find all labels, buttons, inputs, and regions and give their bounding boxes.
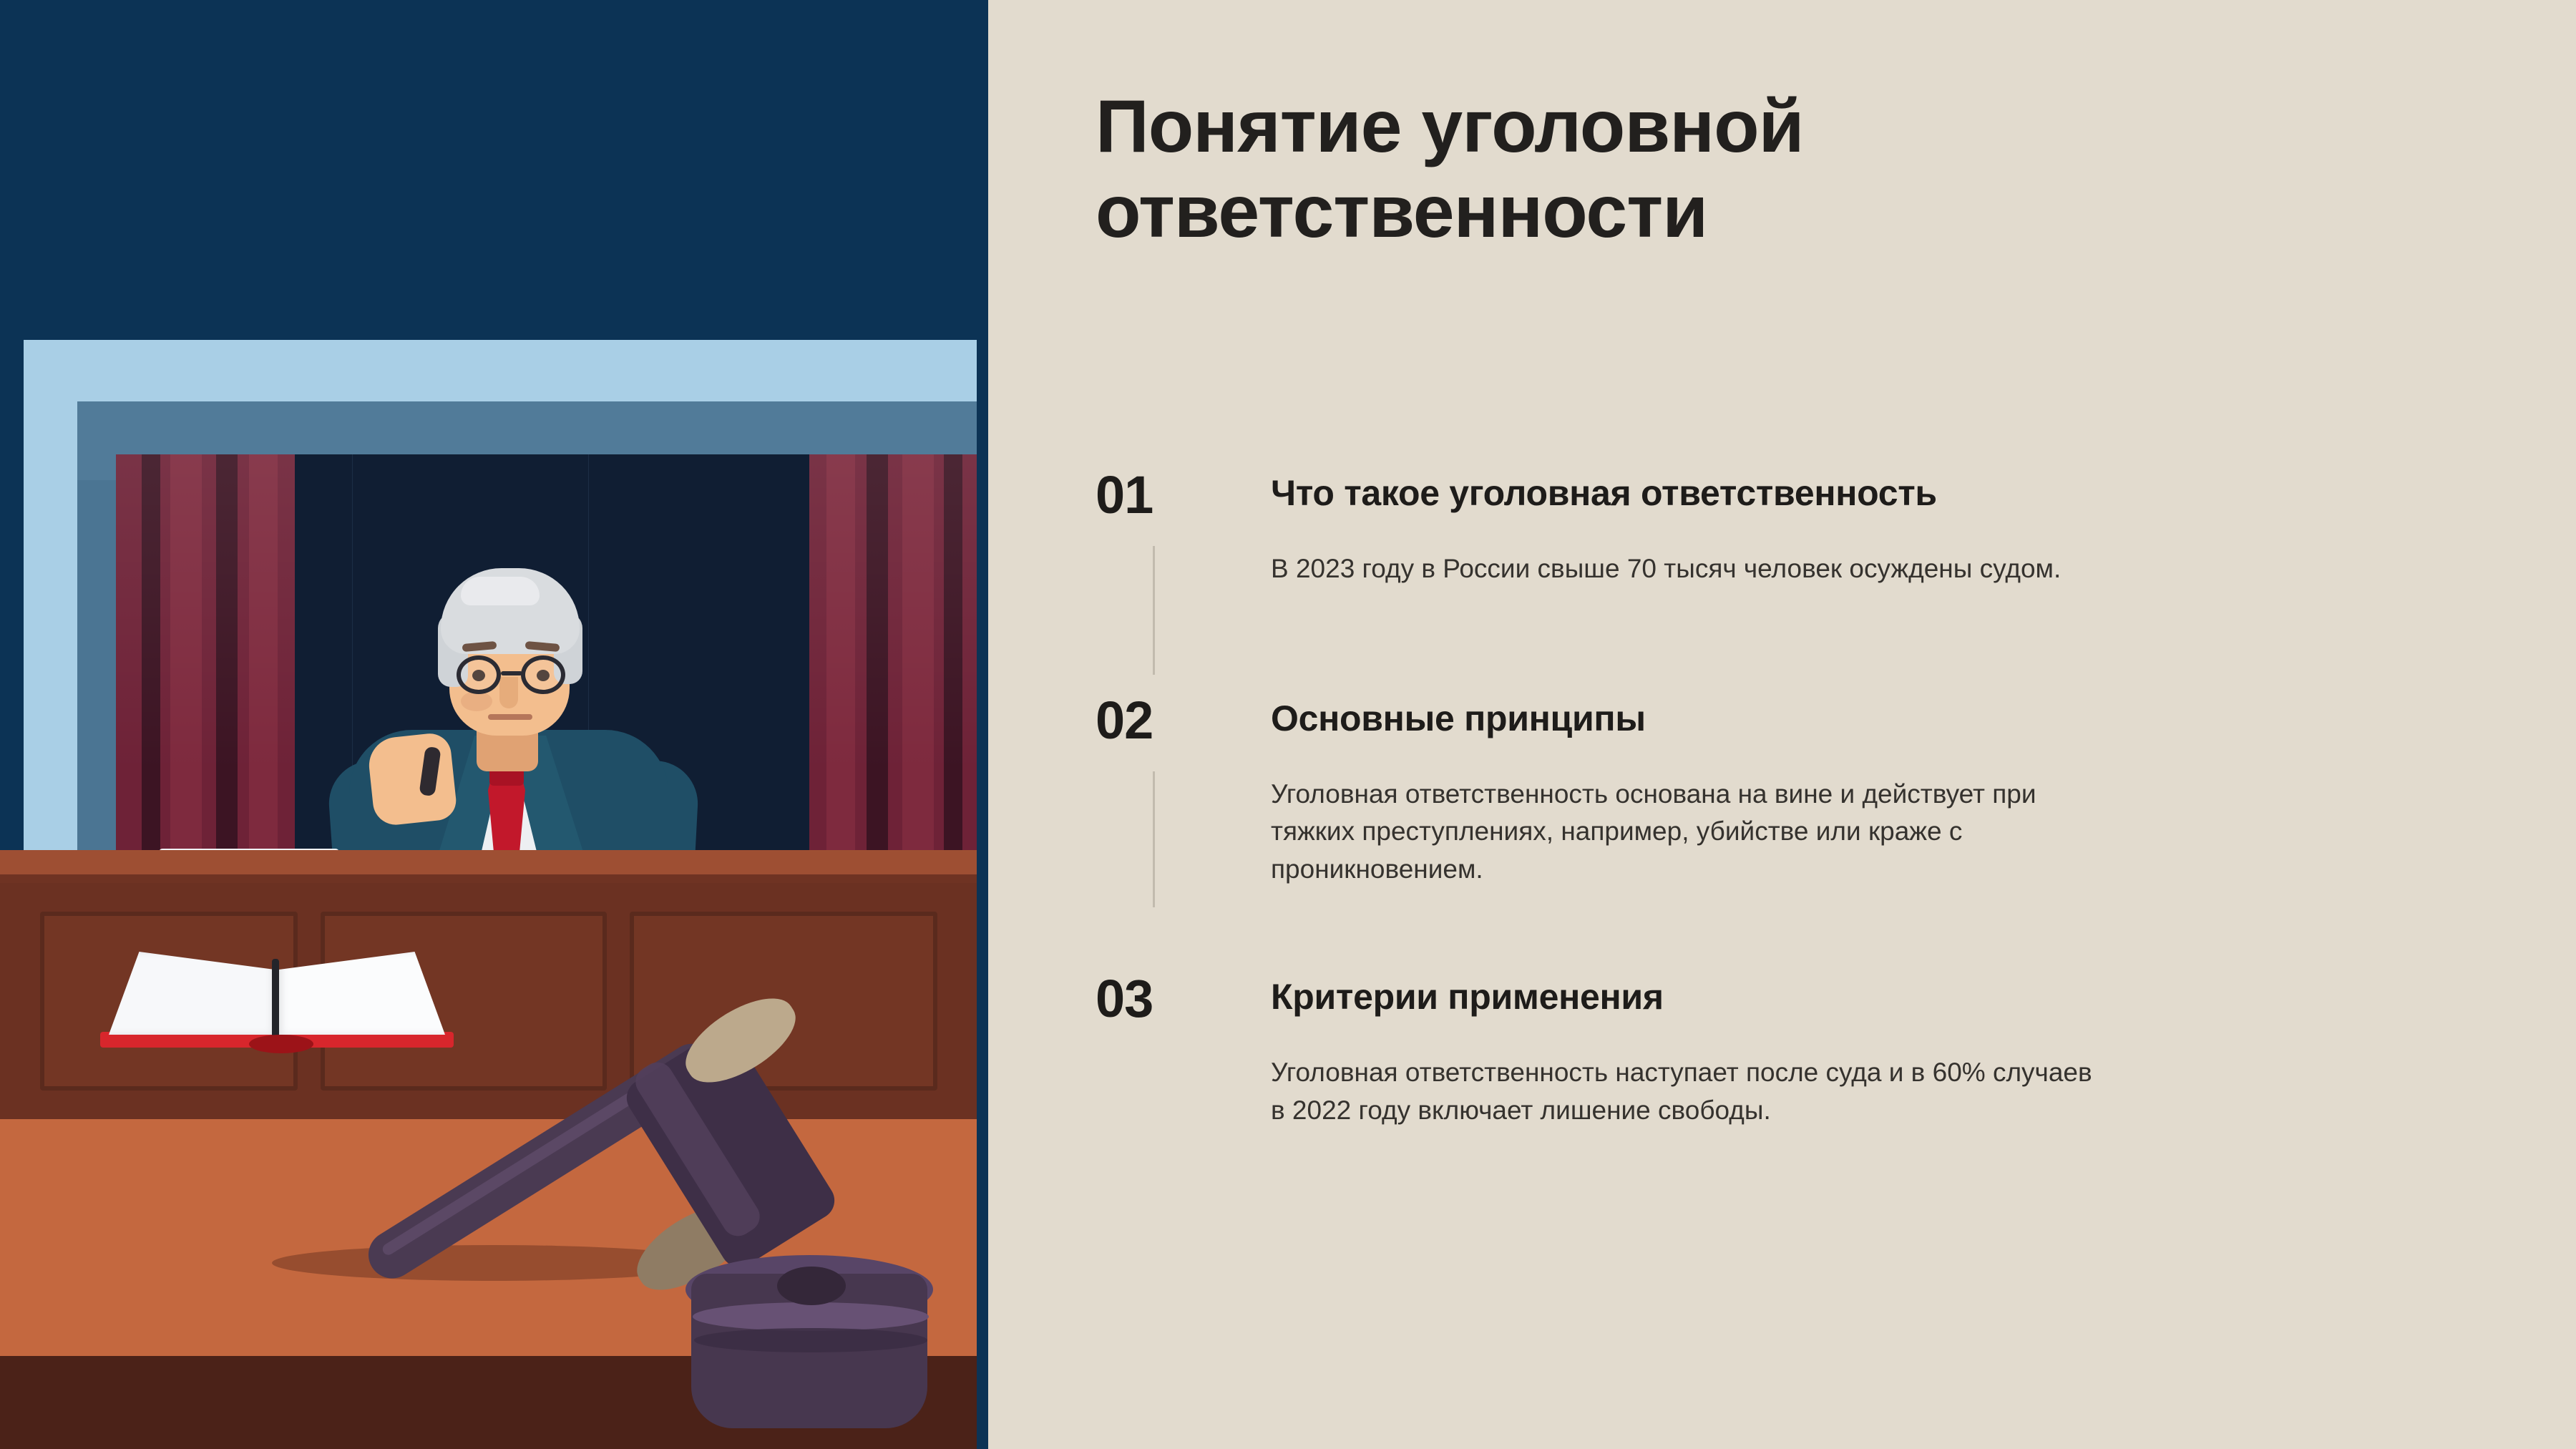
item-title: Что такое уголовная ответственность xyxy=(1271,472,2390,514)
gavel-icon xyxy=(343,966,987,1438)
item-description: В 2023 году в России свыше 70 тысяч чело… xyxy=(1271,550,2337,588)
list-item: 01 Что такое уголовная ответственность В… xyxy=(1096,469,2390,588)
glasses-icon-left-lens xyxy=(457,655,501,694)
item-number-column: 02 xyxy=(1096,694,1271,747)
bench-top-rail xyxy=(0,850,988,883)
item-divider-line xyxy=(1153,771,1155,907)
item-number: 01 xyxy=(1096,469,1271,522)
judge-nose xyxy=(499,677,518,708)
judge-cheek xyxy=(461,691,492,711)
judge-mouth xyxy=(488,714,532,720)
item-description: Уголовная ответственность наступает посл… xyxy=(1271,1054,2337,1129)
numbered-list: 01 Что такое уголовная ответственность В… xyxy=(1096,469,2390,1129)
item-title: Критерии применения xyxy=(1271,975,2390,1018)
item-number: 02 xyxy=(1096,694,1271,747)
item-text-column: Критерии применения Уголовная ответствен… xyxy=(1271,972,2390,1129)
item-number: 03 xyxy=(1096,972,1271,1025)
glasses-icon-bridge xyxy=(501,671,522,675)
item-number-column: 01 xyxy=(1096,469,1271,522)
list-item: 02 Основные принципы Уголовная ответстве… xyxy=(1096,694,2390,889)
list-item: 03 Критерии применения Уголовная ответст… xyxy=(1096,972,2390,1129)
judge-fist xyxy=(366,731,458,826)
item-title: Основные принципы xyxy=(1271,697,2390,740)
item-number-column: 03 xyxy=(1096,972,1271,1025)
judge-courtroom-illustration xyxy=(0,0,988,1449)
item-divider-line xyxy=(1153,546,1155,675)
item-text-column: Что такое уголовная ответственность В 20… xyxy=(1271,469,2390,588)
judge-hair-highlight xyxy=(461,577,540,605)
slide-root: Понятие уголовной ответственности 01 Что… xyxy=(0,0,2576,1449)
content-area: Понятие уголовной ответственности 01 Что… xyxy=(988,0,2576,1449)
item-description: Уголовная ответственность основана на ви… xyxy=(1271,776,2337,889)
page-title: Понятие уголовной ответственности xyxy=(1096,84,2097,254)
item-text-column: Основные принципы Уголовная ответственно… xyxy=(1271,694,2390,889)
glasses-icon-right-lens xyxy=(521,655,565,694)
panel-edge-strip xyxy=(977,0,988,1449)
